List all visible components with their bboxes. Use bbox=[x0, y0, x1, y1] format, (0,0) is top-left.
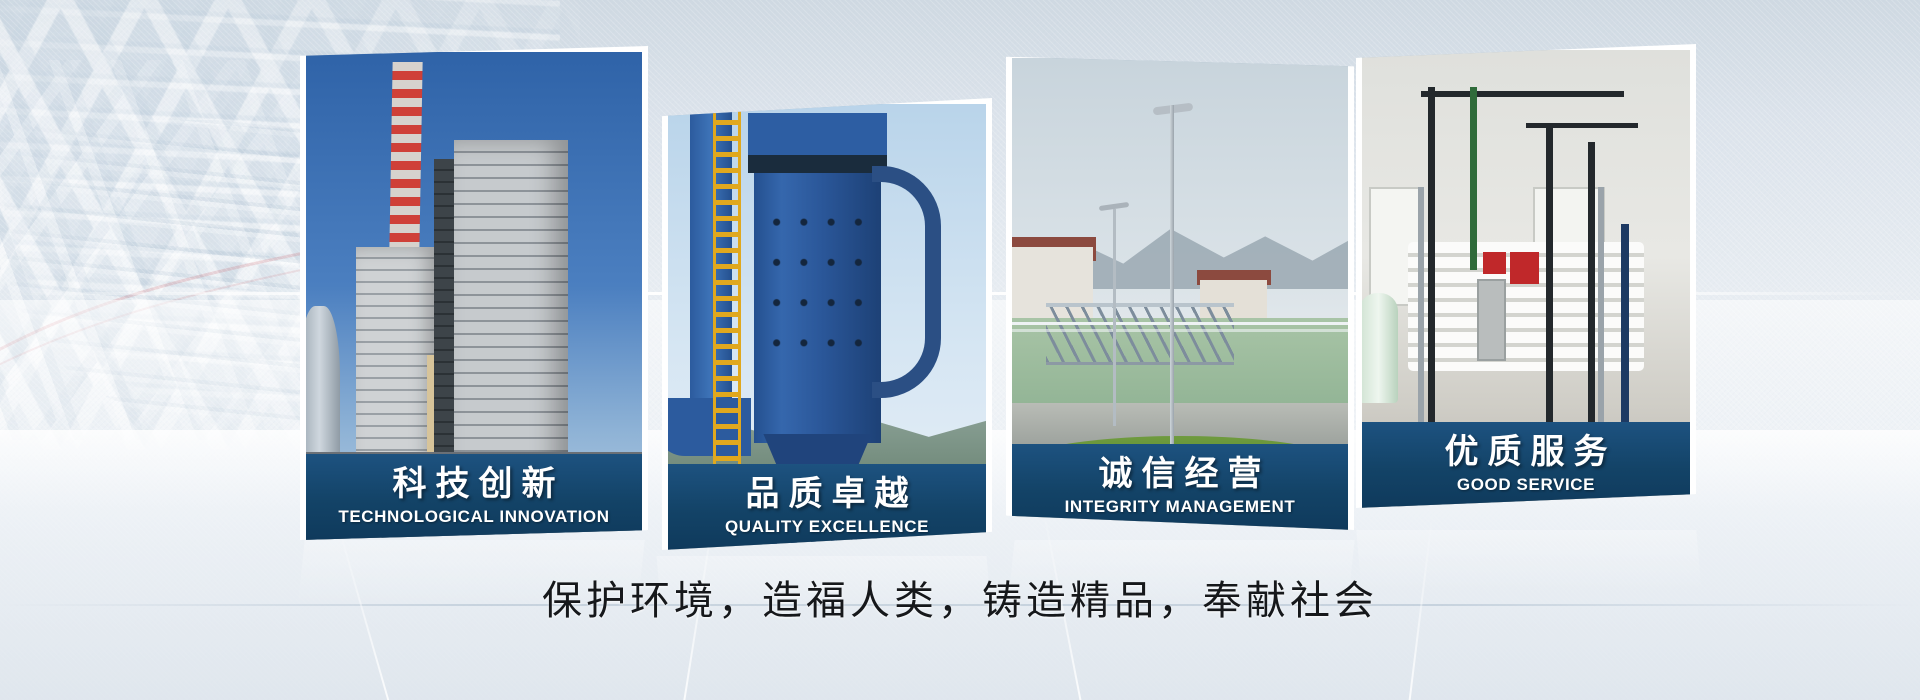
card-label-good-service: 优质服务 GOOD SERVICE bbox=[1362, 422, 1690, 508]
hero-banner: 科技创新 TECHNOLOGICAL INNOVATION bbox=[0, 0, 1920, 700]
card-label-quality-excellence: 品质卓越 QUALITY EXCELLENCE bbox=[668, 464, 986, 550]
card-title-en: QUALITY EXCELLENCE bbox=[672, 516, 982, 538]
card-title-cn: 诚信经营 bbox=[1016, 454, 1344, 494]
card-title-en: GOOD SERVICE bbox=[1366, 474, 1686, 496]
card-title-en: TECHNOLOGICAL INNOVATION bbox=[310, 506, 638, 528]
banner-tagline: 保护环境，造福人类，铸造精品，奉献社会 bbox=[0, 568, 1920, 626]
card-photo-integrity-management: 诚信经营 INTEGRITY MANAGEMENT bbox=[1012, 58, 1348, 530]
card-title-cn: 优质服务 bbox=[1366, 432, 1686, 472]
card-label-technological-innovation: 科技创新 TECHNOLOGICAL INNOVATION bbox=[306, 454, 642, 540]
feature-card-quality-excellence[interactable]: 品质卓越 QUALITY EXCELLENCE bbox=[662, 98, 992, 550]
card-title-cn: 科技创新 bbox=[310, 464, 638, 504]
card-title-en: INTEGRITY MANAGEMENT bbox=[1016, 496, 1344, 518]
card-photo-good-service: 优质服务 GOOD SERVICE bbox=[1362, 50, 1690, 508]
card-title-cn: 品质卓越 bbox=[672, 474, 982, 514]
card-photo-technological-innovation: 科技创新 TECHNOLOGICAL INNOVATION bbox=[306, 52, 642, 540]
feature-card-good-service[interactable]: 优质服务 GOOD SERVICE bbox=[1356, 44, 1696, 508]
feature-card-integrity-management[interactable]: 诚信经营 INTEGRITY MANAGEMENT bbox=[1006, 52, 1354, 530]
feature-card-technological-innovation[interactable]: 科技创新 TECHNOLOGICAL INNOVATION bbox=[300, 46, 648, 540]
card-photo-quality-excellence: 品质卓越 QUALITY EXCELLENCE bbox=[668, 104, 986, 550]
card-label-integrity-management: 诚信经营 INTEGRITY MANAGEMENT bbox=[1012, 444, 1348, 530]
